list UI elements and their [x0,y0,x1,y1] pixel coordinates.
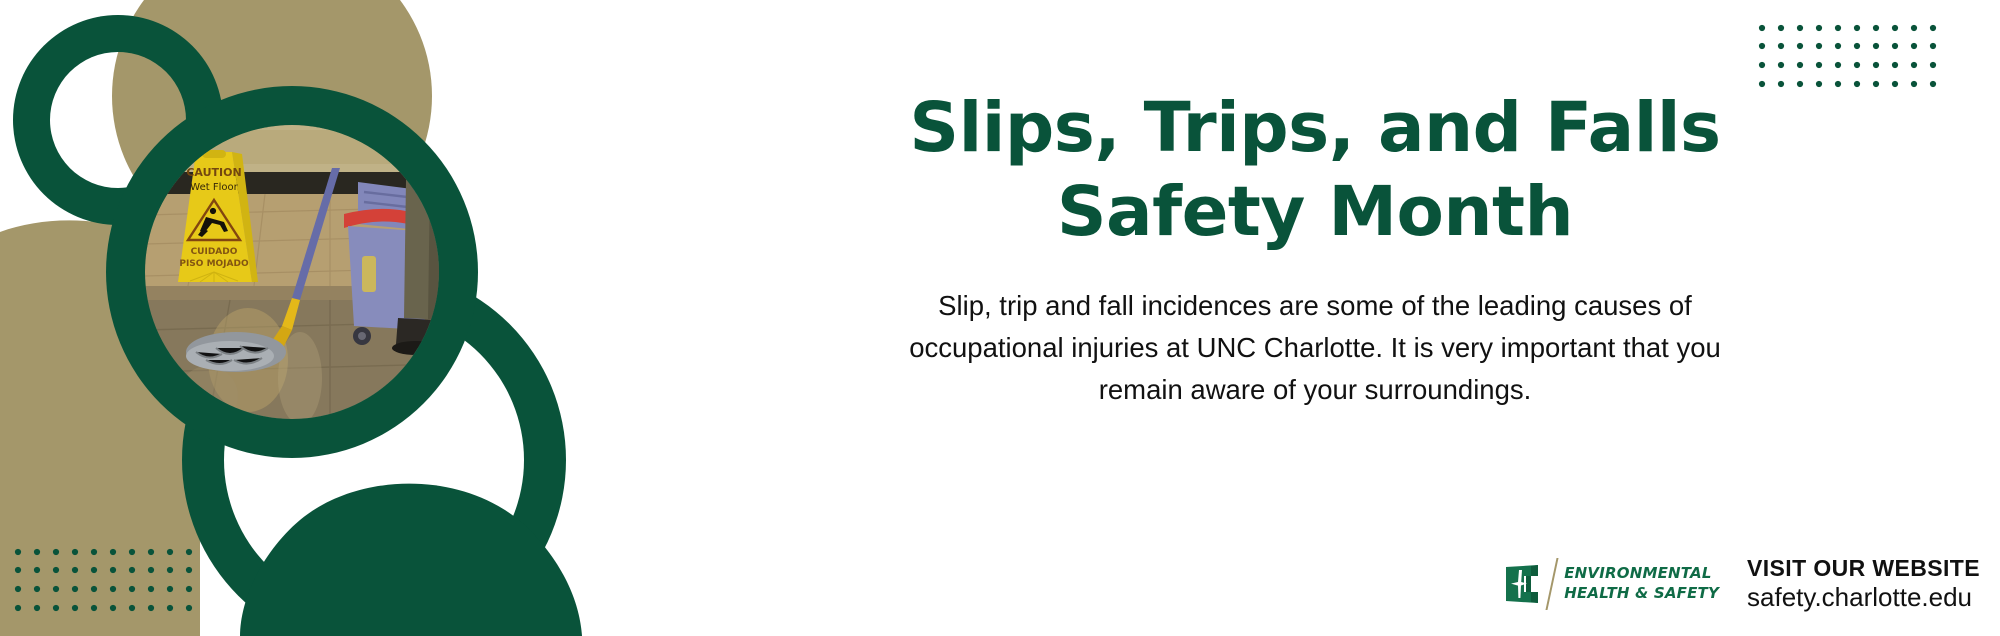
unc-charlotte-c-logo-icon [1504,564,1540,604]
page-title: Slips, Trips, and Falls Safety Month [620,86,2000,254]
headline-line-1: Slips, Trips, and Falls [620,86,2000,170]
ehs-unit-line-2: HEALTH & SAFETY [1564,584,1719,604]
logo-lockup: ENVIRONMENTAL HEALTH & SAFETY VISIT OUR … [1504,554,1980,614]
ehs-logo[interactable]: ENVIRONMENTAL HEALTH & SAFETY [1504,558,1719,610]
dot-grid-bottom-left [14,548,194,622]
decorative-graphic-composition: CAUTION Wet Floor CUIDADO PISO MOJADO [0,0,620,636]
website-url[interactable]: safety.charlotte.edu [1747,582,1980,614]
description-line-3: remain aware of your surroundings. [620,369,2000,411]
headline-line-2: Safety Month [620,170,2000,254]
logo-divider [1546,558,1559,610]
visit-our-website-label: VISIT OUR WEBSITE [1747,554,1980,582]
ehs-unit-name: ENVIRONMENTAL HEALTH & SAFETY [1564,564,1719,604]
description-text: Slip, trip and fall incidences are some … [620,285,2000,410]
banner-content: Slips, Trips, and Falls Safety Month Sli… [620,0,2000,636]
description-line-2: occupational injuries at UNC Charlotte. … [620,327,2000,369]
website-callout[interactable]: VISIT OUR WEBSITE safety.charlotte.edu [1747,554,1980,614]
green-ring-large [0,0,620,636]
safety-banner: CAUTION Wet Floor CUIDADO PISO MOJADO [0,0,2000,636]
ehs-unit-line-1: ENVIRONMENTAL [1564,564,1719,584]
description-line-1: Slip, trip and fall incidences are some … [620,285,2000,327]
